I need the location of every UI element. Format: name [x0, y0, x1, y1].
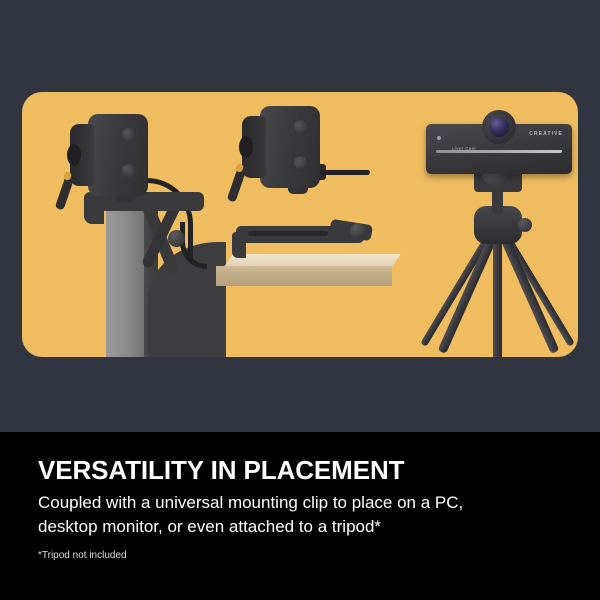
- webcam-body: [260, 106, 320, 188]
- clip-thumbscrew-icon: [350, 223, 366, 239]
- scene-webcam-on-desk: [218, 92, 388, 357]
- webcam-lens-icon: [489, 117, 509, 137]
- webcam-screw-top: [122, 128, 135, 141]
- clip-release-tab: [227, 167, 247, 202]
- webcam-screw-top: [294, 120, 307, 133]
- headline: VERSATILITY IN PLACEMENT: [38, 455, 404, 486]
- brand-wordmark: CREATIVE: [529, 131, 563, 137]
- caption-band: VERSATILITY IN PLACEMENT Coupled with a …: [0, 432, 600, 600]
- tripod-leg-right: [500, 236, 559, 354]
- desk-surface-front: [216, 266, 392, 286]
- scene-webcam-on-tripod: CREATIVE Live! Cam: [374, 92, 578, 357]
- product-feature-image: CREATIVE Live! Cam VERSATILITY IN PLACEM…: [0, 0, 600, 600]
- clip-base-groove: [248, 231, 328, 236]
- usb-cable: [318, 170, 370, 175]
- tripod-locking-knob-icon: [518, 218, 532, 232]
- webcam-screw-bottom: [294, 156, 307, 169]
- webcam-lens-edge: [67, 144, 81, 166]
- clip-release-tab: [55, 175, 75, 210]
- webcam-lens-edge: [239, 136, 253, 158]
- body-copy: Coupled with a universal mounting clip t…: [38, 491, 468, 539]
- clip-base-foot: [232, 232, 246, 258]
- tripod-leg-left: [438, 236, 497, 354]
- webcam-screw-bottom: [122, 164, 135, 177]
- scene-webcam-on-monitor: [40, 92, 230, 357]
- mounting-clip-hook: [84, 192, 104, 224]
- clip-thumbscrew-icon: [168, 230, 185, 247]
- status-led-icon: [437, 136, 441, 140]
- webcam-body: [88, 114, 148, 196]
- hero-photo-panel: CREATIVE Live! Cam: [22, 92, 578, 357]
- footnote: *Tripod not included: [38, 550, 127, 561]
- model-name-label: Live! Cam: [452, 146, 476, 151]
- tripod-leg-center: [493, 238, 502, 357]
